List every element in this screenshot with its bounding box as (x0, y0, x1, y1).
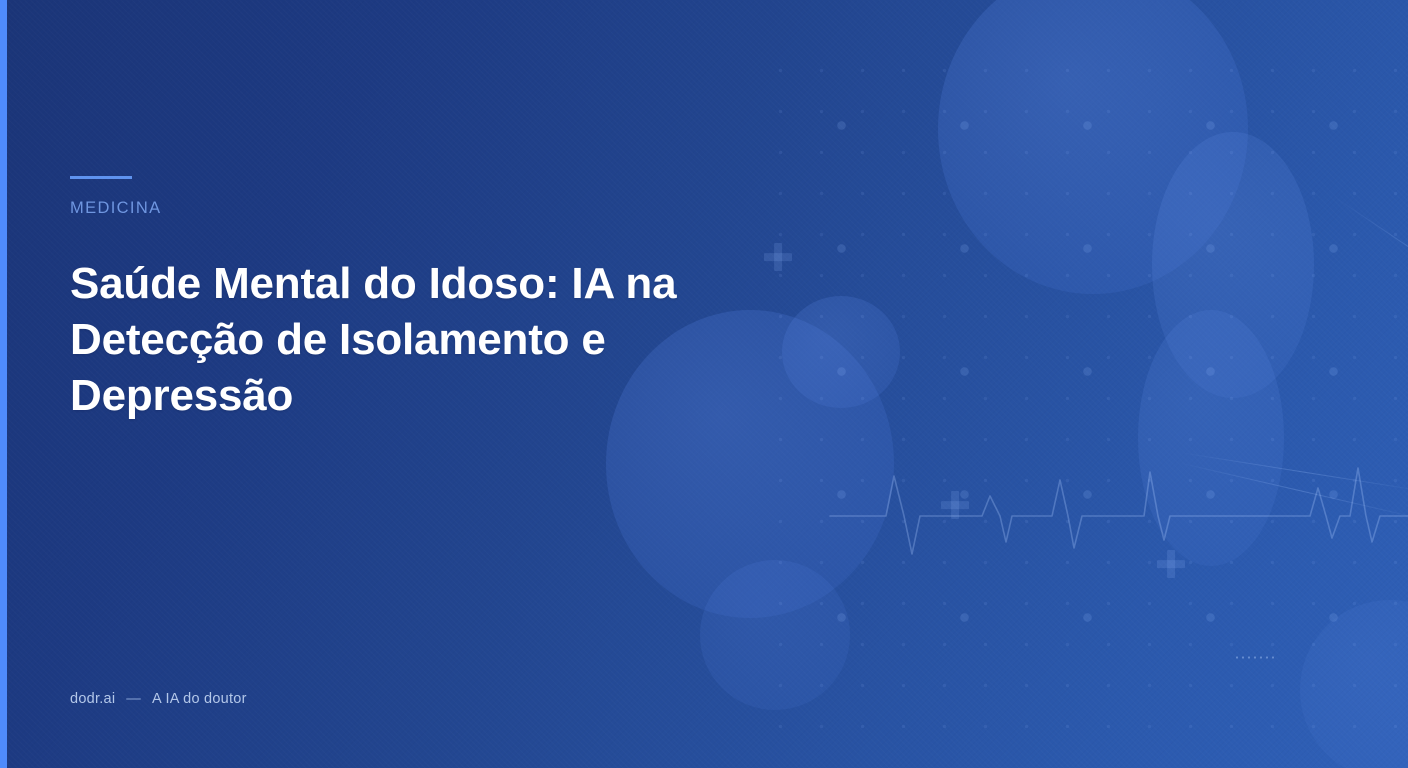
medical-cross-icon (941, 491, 969, 519)
slide-content: MEDICINA Saúde Mental do Idoso: IA na De… (70, 0, 790, 768)
decorative-circle-7 (1300, 600, 1408, 768)
decorative-circle-2 (1152, 132, 1314, 398)
medical-cross-icon (1157, 550, 1185, 578)
brand-tagline: A IA do doutor (152, 691, 247, 707)
presentation-slide: MEDICINA Saúde Mental do Idoso: IA na De… (0, 0, 1408, 768)
ecg-heartbeat-icon (830, 450, 1408, 590)
dotted-trace-line (1234, 656, 1276, 659)
decorative-circle-1 (938, 0, 1248, 294)
slide-footer: dodr.ai — A IA do doutor (70, 691, 247, 707)
slide-title: Saúde Mental do Idoso: IA na Detecção de… (70, 256, 710, 424)
left-accent-bar (0, 0, 7, 768)
diagonal-line-2 (1180, 452, 1408, 492)
diagonal-line-1 (1333, 196, 1408, 337)
decorative-circle-5 (782, 296, 900, 408)
dot-grid-fine (760, 50, 1408, 728)
eyebrow-rule (70, 176, 132, 179)
decorative-circle-3 (1138, 310, 1284, 566)
footer-separator: — (126, 691, 141, 707)
brand-name: dodr.ai (70, 691, 115, 707)
dot-grid-coarse (780, 64, 1408, 708)
category-label: MEDICINA (70, 199, 161, 218)
diagonal-line-3 (1178, 462, 1408, 519)
